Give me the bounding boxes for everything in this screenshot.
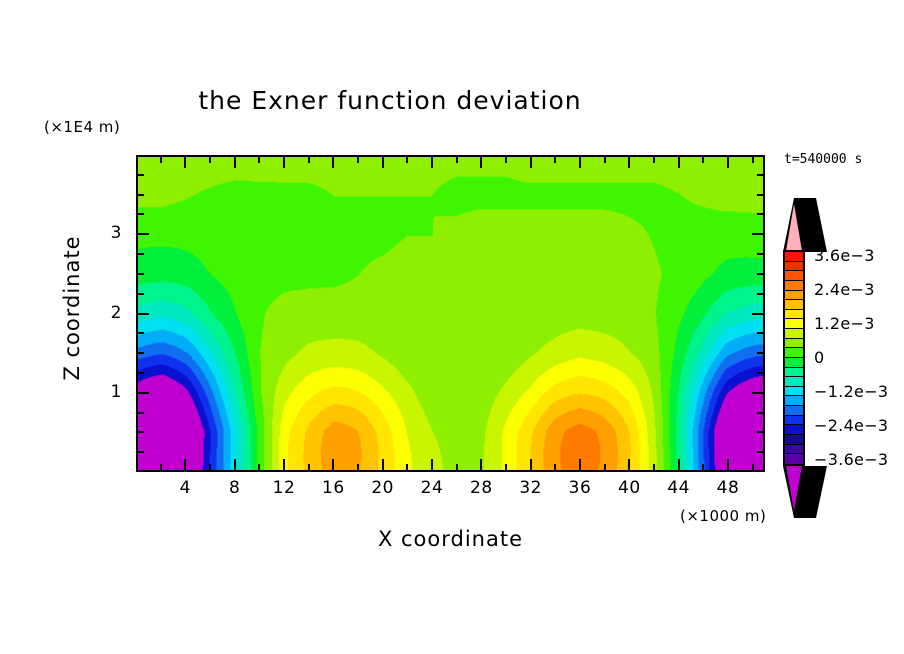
y-axis-title: Z coordinate — [60, 198, 84, 418]
x-tick-top — [209, 157, 211, 163]
page-title: the Exner function deviation — [0, 86, 780, 115]
colorbar-band — [785, 348, 803, 358]
x-tick — [184, 459, 186, 470]
y-tick-right — [757, 253, 763, 255]
x-tick — [308, 464, 310, 470]
colorbar-band — [785, 358, 803, 368]
x-tick — [209, 464, 211, 470]
colorbar-band — [785, 445, 803, 455]
y-tick-right — [757, 431, 763, 433]
y-tick-right — [757, 213, 763, 215]
colorbar-band — [785, 416, 803, 426]
y-tick-right — [757, 194, 763, 196]
x-tick — [727, 459, 729, 470]
y-tick — [138, 293, 144, 295]
x-tick-top — [357, 157, 359, 163]
x-tick-label: 40 — [606, 478, 652, 498]
x-tick — [653, 464, 655, 470]
colorbar-band — [785, 387, 803, 397]
y-tick — [138, 352, 144, 354]
y-axis-unit-label: (×1E4 m) — [44, 118, 120, 136]
y-tick-label: 2 — [86, 303, 122, 323]
colorbar-band — [785, 310, 803, 320]
x-tick-top — [727, 157, 729, 168]
y-tick — [138, 194, 144, 196]
y-tick — [138, 412, 144, 414]
colorbar-band — [785, 396, 803, 406]
y-tick — [138, 233, 149, 235]
y-tick — [138, 372, 144, 374]
x-tick-top — [554, 157, 556, 163]
x-tick-label: 28 — [458, 478, 504, 498]
x-tick-label: 44 — [656, 478, 702, 498]
colorbar-band — [785, 329, 803, 339]
y-tick-right — [752, 313, 763, 315]
x-tick — [258, 464, 260, 470]
y-tick-right — [757, 451, 763, 453]
y-tick — [138, 273, 144, 275]
x-tick — [530, 459, 532, 470]
x-tick-top — [653, 157, 655, 163]
colorbar-band — [785, 339, 803, 349]
x-tick-top — [505, 157, 507, 163]
x-tick-top — [702, 157, 704, 163]
x-tick — [406, 464, 408, 470]
colorbar-band — [785, 291, 803, 301]
y-tick-right — [757, 174, 763, 176]
colorbar: 3.6e−32.4e−31.2e−30−1.2e−3−2.4e−3−3.6e−3 — [778, 198, 810, 518]
colorbar-label: 0 — [814, 348, 824, 367]
y-tick-label: 3 — [86, 223, 122, 243]
x-tick — [678, 459, 680, 470]
y-tick-right — [757, 332, 763, 334]
x-tick-top — [579, 157, 581, 168]
x-tick-top — [431, 157, 433, 168]
colorbar-over-fill — [786, 204, 802, 251]
x-tick-top — [332, 157, 334, 168]
colorbar-label: −1.2e−3 — [814, 382, 888, 401]
colorbar-label: −3.6e−3 — [814, 450, 888, 469]
y-tick-right — [757, 273, 763, 275]
y-tick-right — [757, 372, 763, 374]
x-tick — [702, 464, 704, 470]
y-tick-right — [757, 293, 763, 295]
colorbar-bands — [783, 250, 805, 466]
x-tick-top — [480, 157, 482, 168]
x-tick-label: 8 — [212, 478, 258, 498]
x-tick — [160, 464, 162, 470]
y-tick — [138, 451, 144, 453]
colorbar-band — [785, 281, 803, 291]
y-tick — [138, 431, 144, 433]
y-tick-right — [757, 412, 763, 414]
x-tick-label: 24 — [409, 478, 455, 498]
colorbar-label: −2.4e−3 — [814, 416, 888, 435]
colorbar-band — [785, 271, 803, 281]
colorbar-label: 1.2e−3 — [814, 314, 875, 333]
colorbar-band — [785, 262, 803, 272]
x-tick-top — [604, 157, 606, 163]
figure-canvas: the Exner function deviation (×1E4 m) (×… — [0, 0, 904, 654]
y-tick-right — [757, 352, 763, 354]
y-tick — [138, 392, 149, 394]
y-tick-right — [752, 233, 763, 235]
x-tick-label: 36 — [557, 478, 603, 498]
x-tick-top — [752, 157, 754, 163]
x-tick — [382, 459, 384, 470]
contour-plot-area — [136, 155, 765, 472]
x-tick — [332, 459, 334, 470]
contour-field — [138, 157, 763, 470]
y-tick — [138, 253, 144, 255]
x-tick-label: 16 — [310, 478, 356, 498]
x-tick-label: 48 — [705, 478, 751, 498]
x-tick-top — [234, 157, 236, 168]
x-tick-top — [283, 157, 285, 168]
x-tick — [357, 464, 359, 470]
x-tick-top — [382, 157, 384, 168]
colorbar-band — [785, 252, 803, 262]
x-tick — [431, 459, 433, 470]
y-tick-right — [752, 392, 763, 394]
x-tick-label: 12 — [261, 478, 307, 498]
colorbar-band — [785, 435, 803, 445]
x-tick — [604, 464, 606, 470]
y-tick — [138, 313, 149, 315]
x-tick — [480, 459, 482, 470]
x-tick — [628, 459, 630, 470]
x-tick-label: 32 — [508, 478, 554, 498]
x-tick-top — [678, 157, 680, 168]
colorbar-under-fill — [786, 466, 802, 511]
y-tick — [138, 213, 144, 215]
y-tick-label: 1 — [86, 382, 122, 402]
x-tick — [456, 464, 458, 470]
x-tick-top — [530, 157, 532, 168]
colorbar-band — [785, 377, 803, 387]
x-tick-top — [184, 157, 186, 168]
x-tick-top — [628, 157, 630, 168]
x-tick-label: 4 — [162, 478, 208, 498]
x-axis-unit-label: (×1000 m) — [680, 507, 766, 525]
x-tick — [234, 459, 236, 470]
colorbar-band — [785, 454, 803, 464]
y-tick — [138, 174, 144, 176]
x-tick-top — [258, 157, 260, 163]
colorbar-band — [785, 425, 803, 435]
y-tick — [138, 332, 144, 334]
x-axis-title: X coordinate — [136, 527, 765, 551]
x-tick-top — [160, 157, 162, 163]
x-tick-top — [308, 157, 310, 163]
x-tick — [283, 459, 285, 470]
x-tick-top — [456, 157, 458, 163]
colorbar-label: 3.6e−3 — [814, 246, 875, 265]
colorbar-band — [785, 300, 803, 310]
colorbar-band — [785, 319, 803, 329]
time-stamp-annotation: t=540000 s — [784, 152, 862, 167]
x-tick — [554, 464, 556, 470]
x-tick-label: 20 — [360, 478, 406, 498]
x-tick — [579, 459, 581, 470]
x-tick-top — [406, 157, 408, 163]
colorbar-band — [785, 406, 803, 416]
colorbar-band — [785, 368, 803, 378]
colorbar-label: 2.4e−3 — [814, 280, 875, 299]
x-tick — [752, 464, 754, 470]
x-tick — [505, 464, 507, 470]
